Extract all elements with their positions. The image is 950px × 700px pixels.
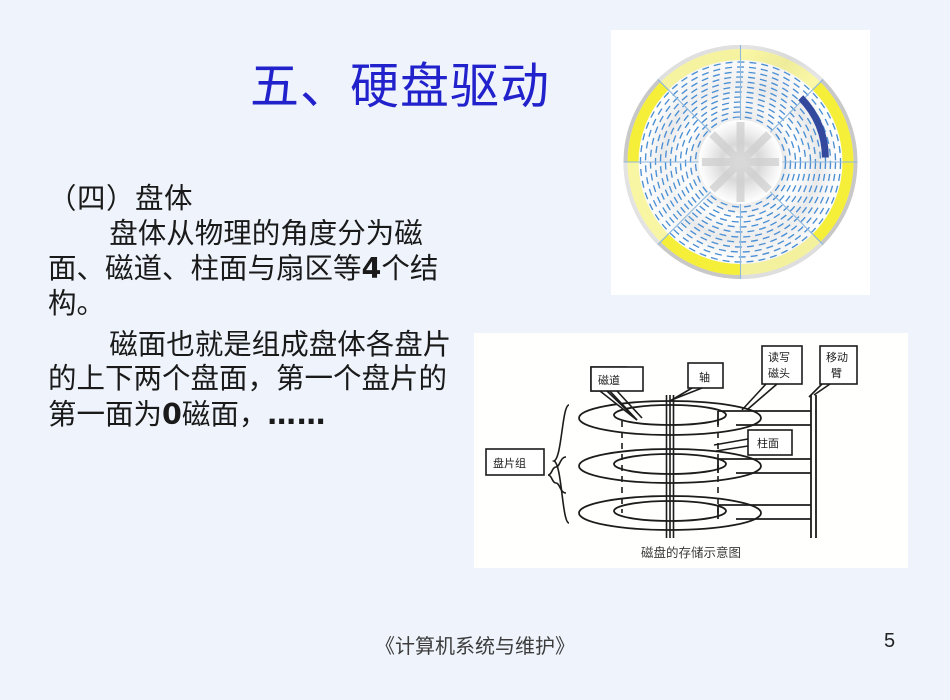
label-platter-stack-text: 盘片组 [493,456,526,470]
label-actuator-arm-line1: 移动 [826,351,848,364]
paragraph-2-number: 0 [162,398,182,431]
paragraph-2-ellipsis: …… [267,398,326,431]
page-number: 5 [884,630,895,653]
label-read-write-head-line2: 磁头 [768,367,790,380]
footer-title: 《计算机系统与维护》 [0,630,950,659]
diagram-caption: 磁盘的存储示意图 [641,545,741,560]
page-title: 五、硬盘驱动 [250,62,670,111]
label-cylinder-text: 柱面 [757,436,779,450]
label-cylinder: 柱面 [714,430,792,455]
paragraph-2-text-b: 磁面， [182,400,268,431]
label-spindle: 轴 [670,363,723,401]
paragraph-2: 磁面也就是组成盘体各盘片的上下两个盘面，第一个盘片的第一面为0磁面，…… [48,329,468,434]
section-heading: （四）盘体 [48,183,468,218]
slide-body-text: （四）盘体 盘体从物理的角度分为磁面、磁道、柱面与扇区等4个结构。 磁面也就是组… [48,183,468,433]
paragraph-1-number: 4 [362,252,382,285]
label-actuator-arm: 移动 臂 [809,346,857,397]
label-spindle-text: 轴 [699,370,710,384]
label-read-write-head-line1: 读写 [768,350,790,364]
label-track-text: 磁道 [598,373,620,387]
storage-diagram: 磁道 轴 读写 磁头 移动 [474,333,908,568]
actuator-arm-post [811,395,816,538]
label-platter-stack: 盘片组 [486,449,544,475]
presentation-slide: 五、硬盘驱动 （四）盘体 盘体从物理的角度分为磁面、磁道、柱面与扇区等4个结构。… [0,0,950,700]
spindle-shaft [667,395,674,538]
paragraph-1: 盘体从物理的角度分为磁面、磁道、柱面与扇区等4个结构。 [48,218,468,323]
platter-stack-brace-outline [554,405,569,523]
label-read-write-head: 读写 磁头 [742,346,802,410]
label-actuator-arm-line2: 臂 [831,367,842,380]
platter-spindle-hole [738,159,744,165]
read-write-head-arms [718,411,811,519]
platter-stack-brace [548,457,566,493]
